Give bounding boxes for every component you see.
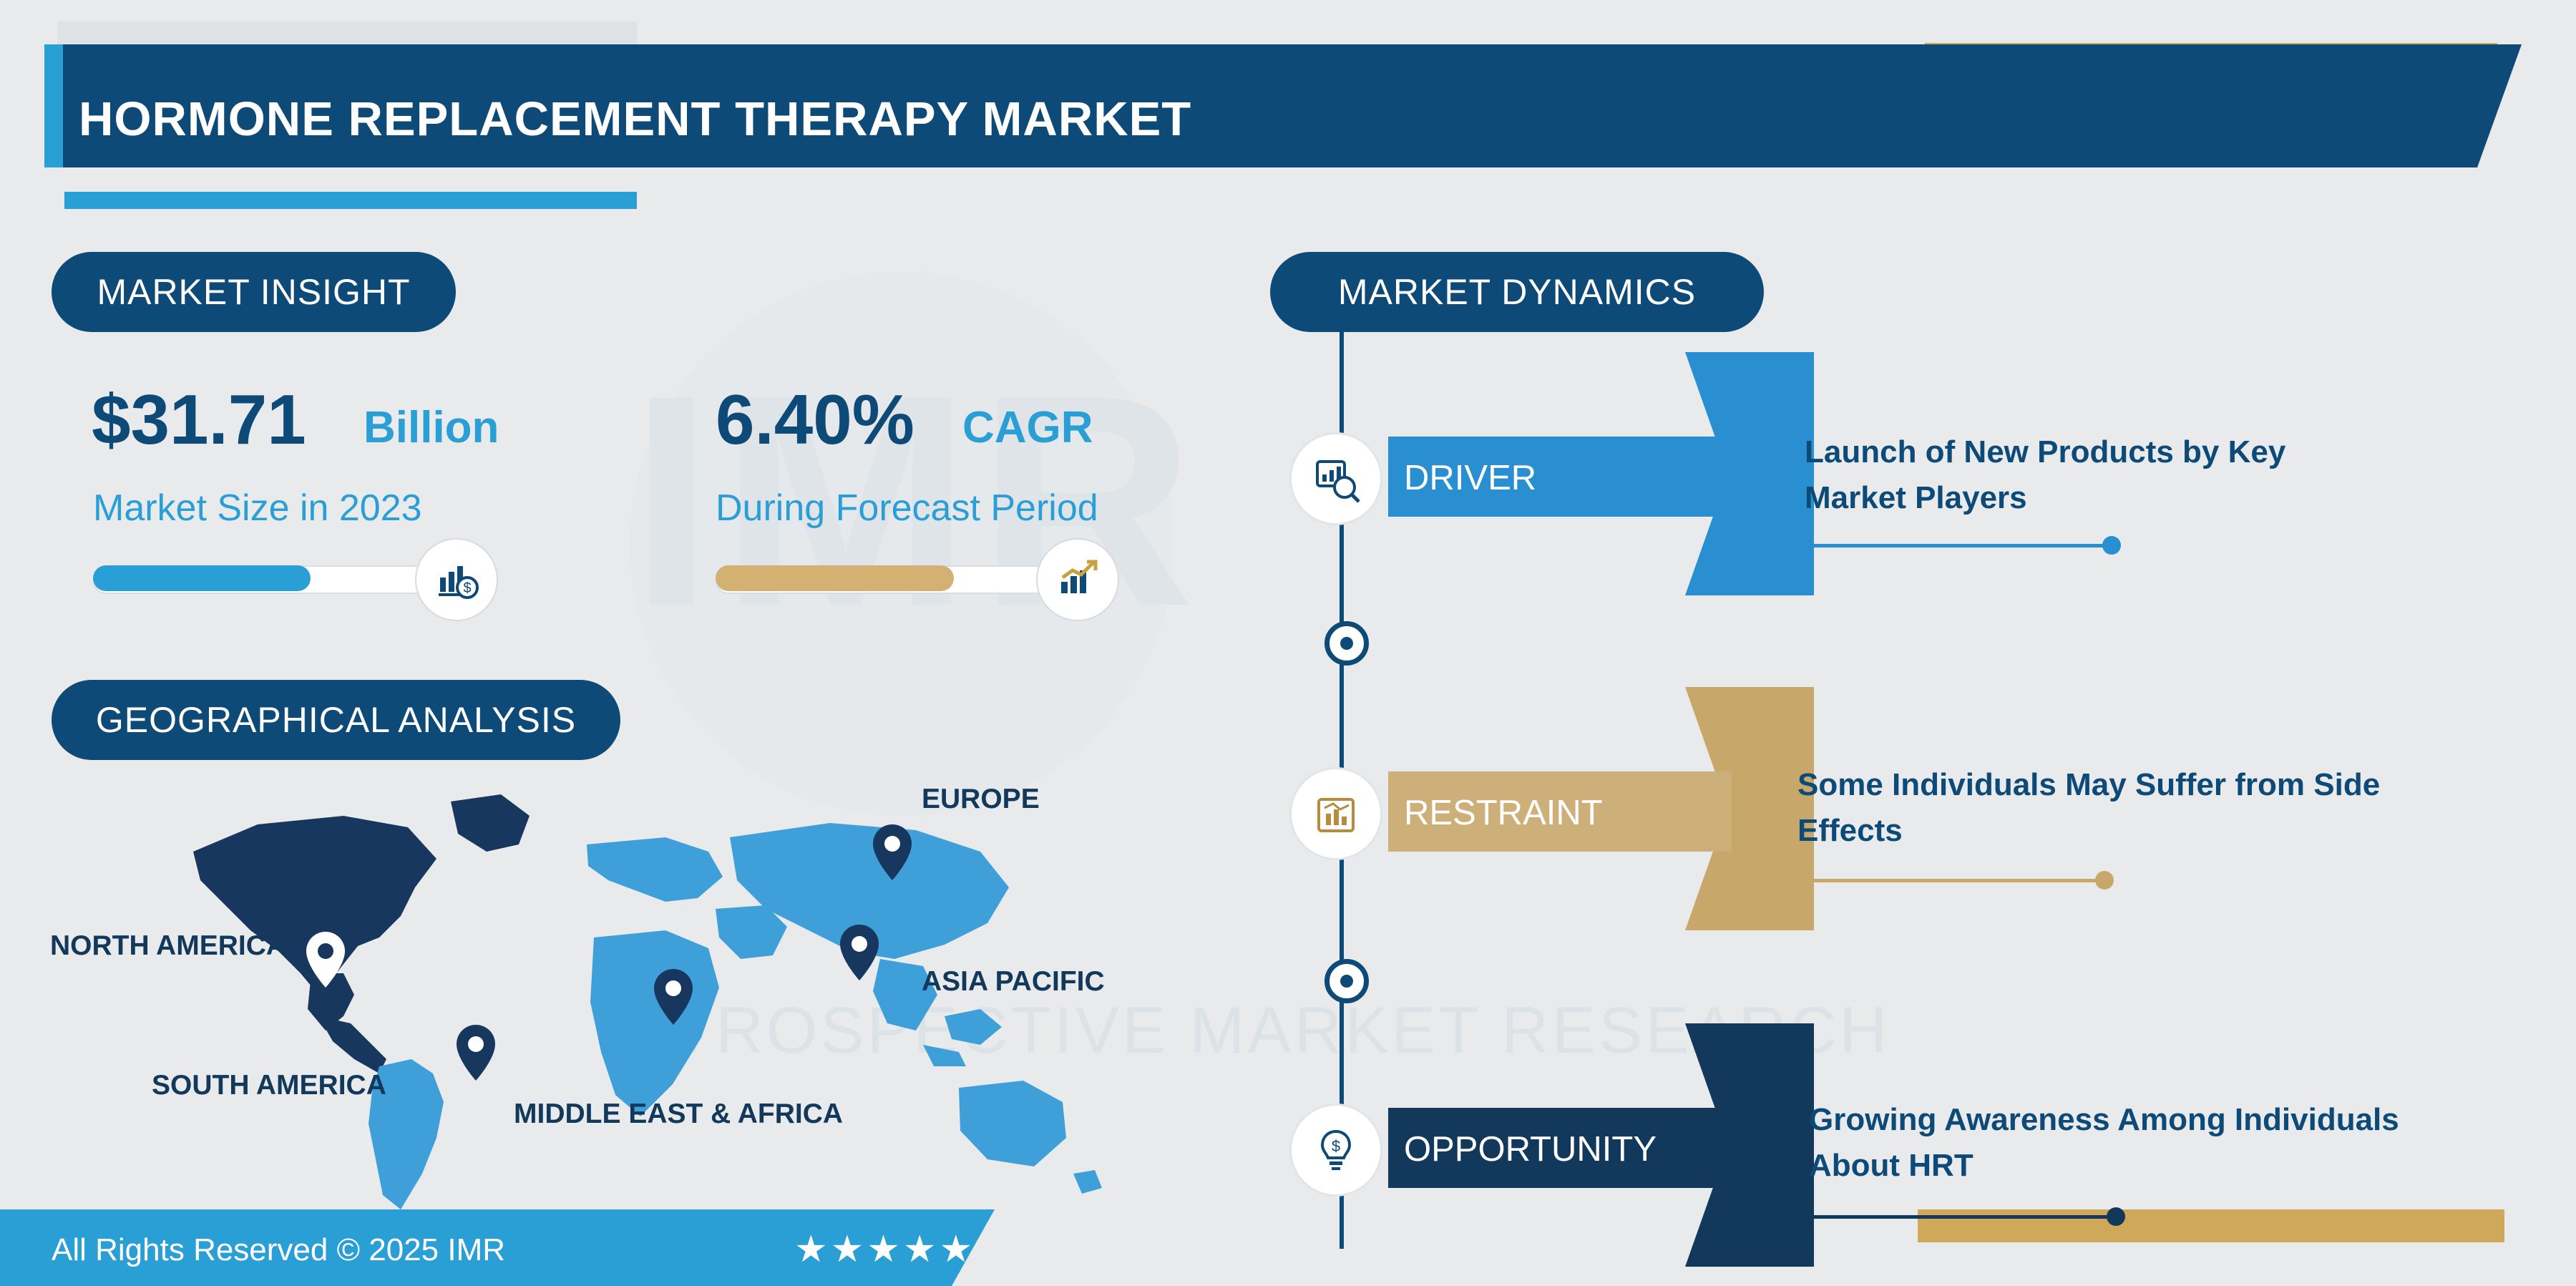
cagr-bar-fill [716, 565, 954, 591]
driver-text: Launch of New Products by Key Market Pla… [1805, 429, 2348, 521]
declining-chart-icon [1307, 785, 1365, 842]
svg-text:$: $ [1332, 1137, 1340, 1155]
analysis-search-icon [1307, 450, 1365, 507]
map-label-asia-pacific: ASIA PACIFIC [922, 966, 1105, 998]
cagr-value: 6.40% [716, 379, 914, 460]
svg-text:$: $ [463, 580, 471, 596]
cagr-unit: CAGR [962, 402, 1093, 453]
spine-node-1 [1324, 621, 1369, 666]
market-size-value: $31.71 [92, 379, 306, 460]
market-size-caption: Market Size in 2023 [93, 487, 422, 530]
market-dynamics-label: MARKET DYNAMICS [1338, 271, 1696, 313]
lightbulb-dollar-icon: $ [1307, 1121, 1365, 1179]
map-label-north-america: NORTH AMERICA [50, 930, 286, 962]
restraint-text: Some Individuals May Suffer from Side Ef… [1797, 762, 2456, 854]
market-insight-pill: MARKET INSIGHT [52, 252, 456, 332]
geographical-analysis-pill: GEOGRAPHICAL ANALYSIS [52, 680, 620, 760]
opportunity-dot [2107, 1207, 2125, 1226]
map-label-europe: EUROPE [922, 784, 1040, 815]
driver-underline [1805, 544, 2119, 547]
cagr-icon-badge [1036, 538, 1119, 621]
restraint-underline [1797, 879, 2112, 882]
map-pin-middle-east-africa [653, 968, 694, 1026]
market-size-unit: Billion [364, 402, 499, 453]
spine-node-2 [1324, 959, 1369, 1003]
restraint-icon-badge [1289, 767, 1382, 860]
geographical-analysis-label: GEOGRAPHICAL ANALYSIS [96, 699, 576, 741]
opportunity-underline [1809, 1215, 2124, 1219]
driver-dot [2102, 536, 2121, 555]
bottom-gold-bar [1918, 1209, 2504, 1242]
cagr-caption: During Forecast Period [716, 487, 1098, 530]
page-title: HORMONE REPLACEMENT THERAPY MARKET [79, 92, 1191, 147]
market-insight-label: MARKET INSIGHT [97, 271, 410, 313]
map-pin-north-america [305, 930, 346, 989]
footer-copyright: All Rights Reserved © 2025 IMR [52, 1232, 505, 1268]
map-pin-europe [872, 823, 913, 882]
driver-icon-badge [1289, 432, 1382, 525]
market-size-icon-badge: $ [415, 538, 498, 621]
map-label-south-america: SOUTH AMERICA [152, 1070, 386, 1101]
map-pin-asia-pacific [839, 923, 880, 982]
restraint-dot [2095, 871, 2114, 890]
opportunity-icon-badge: $ [1289, 1104, 1382, 1197]
header-underline [64, 192, 637, 209]
footer-star-rating: ★★★★★ [794, 1228, 975, 1271]
map-pin-south-america [455, 1023, 497, 1082]
growth-chart-icon [1051, 553, 1104, 606]
header-accent-edge [44, 44, 63, 167]
driver-label: DRIVER [1404, 458, 1536, 498]
market-dynamics-pill: MARKET DYNAMICS [1270, 252, 1764, 332]
market-size-bar-fill [93, 565, 311, 591]
map-label-middle-east-africa: MIDDLE EAST & AFRICA [514, 1099, 843, 1130]
opportunity-text: Growing Awareness Among Individuals Abou… [1809, 1097, 2453, 1189]
opportunity-label: OPPORTUNITY [1404, 1129, 1657, 1169]
bar-chart-dollar-icon: $ [430, 553, 483, 606]
restraint-label: RESTRAINT [1404, 793, 1603, 833]
